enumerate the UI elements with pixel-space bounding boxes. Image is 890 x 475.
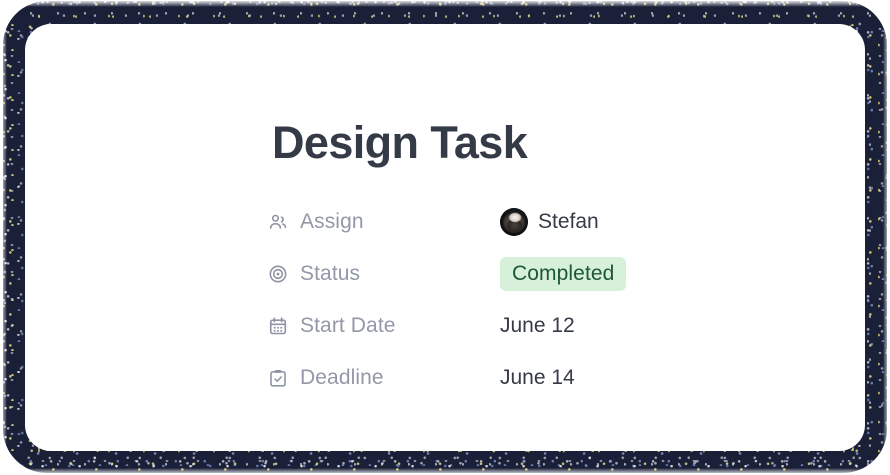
avatar-photo <box>500 208 528 236</box>
task-properties-list: Assign Stefan <box>268 196 828 404</box>
property-row-deadline[interactable]: Deadline June 14 <box>268 352 828 404</box>
clipboard-check-icon <box>268 368 288 388</box>
users-icon <box>268 212 288 232</box>
calendar-icon <box>268 316 288 336</box>
screenshot-root: Design Task Assign <box>0 0 890 475</box>
page-title: Design Task <box>272 120 527 165</box>
property-label-text: Assign <box>300 210 364 234</box>
status-badge[interactable]: Completed <box>500 257 626 291</box>
assignee-name: Stefan <box>538 210 599 234</box>
target-icon <box>268 264 288 284</box>
avatar-highlight <box>512 215 518 219</box>
property-row-status[interactable]: Status Completed <box>268 248 828 300</box>
property-value-status: Completed <box>500 257 626 291</box>
task-detail-card: Design Task Assign <box>25 24 865 451</box>
property-value-deadline: June 14 <box>500 366 575 390</box>
avatar <box>500 208 528 236</box>
property-row-start-date[interactable]: Start Date June 12 <box>268 300 828 352</box>
property-label-text: Deadline <box>300 366 384 390</box>
property-value-assign: Stefan <box>500 208 599 236</box>
property-label-start-date: Start Date <box>268 314 500 338</box>
property-label-deadline: Deadline <box>268 366 500 390</box>
property-value-start-date: June 12 <box>500 314 575 338</box>
property-label-assign: Assign <box>268 210 500 234</box>
property-label-text: Start Date <box>300 314 396 338</box>
property-row-assign[interactable]: Assign Stefan <box>268 196 828 248</box>
property-label-text: Status <box>300 262 360 286</box>
property-label-status: Status <box>268 262 500 286</box>
